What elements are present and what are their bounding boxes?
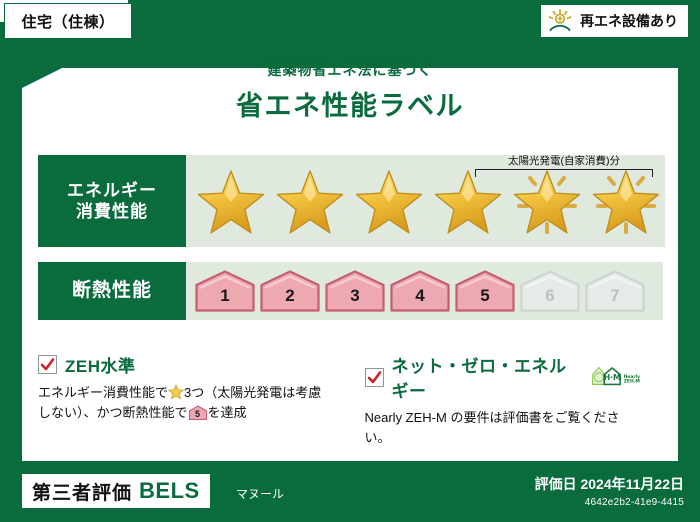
energy-performance-row: エネルギー 消費性能 [38, 155, 663, 247]
bels-footer-badge: 第三者評価 BELS [22, 474, 210, 508]
insulation-level-number: 1 [194, 286, 256, 306]
inline-star-icon [168, 384, 184, 400]
document-type-tab: 住宅（住棟） [4, 3, 132, 39]
solar-annotation-label: 太陽光発電(自家消費)分 [469, 153, 659, 168]
label-heading: 建築物省エネ法に基づく 省エネ性能ラベル [22, 60, 678, 123]
nzeb-criterion-title: ネット・ゼロ・エネルギー [392, 352, 578, 402]
insulation-level-filled: 3 [324, 269, 386, 313]
insulation-level-number: 2 [259, 286, 321, 306]
zeh-m-logo-main: H·M [604, 373, 621, 382]
document-type-label: 住宅（住棟） [21, 11, 114, 32]
insulation-level-number: 5 [454, 286, 516, 306]
nzeb-criterion: ネット・ゼロ・エネルギー H·M Nearly ZEH-M Nearly ZEH… [351, 352, 664, 448]
zeh-criterion-text: エネルギー消費性能で3つ（太陽光発電は考慮しない）、かつ断熱性能で5を達成 [38, 383, 333, 423]
insulation-performance-row: 断熱性能 1 2 3 4 5 6 7 [38, 262, 663, 320]
maker-name: マヌール [236, 485, 284, 502]
zeh-criterion-title: ZEH水準 [65, 352, 136, 377]
evaluation-uid: 4642e2b2-41e9-4415 [535, 497, 684, 508]
zeh-criterion: ZEH水準 エネルギー消費性能で3つ（太陽光発電は考慮しない）、かつ断熱性能で5… [38, 352, 351, 448]
energy-label-line2: 消費性能 [76, 201, 148, 222]
insulation-level-empty: 7 [584, 269, 646, 313]
criteria-section: ZEH水準 エネルギー消費性能で3つ（太陽光発電は考慮しない）、かつ断熱性能で5… [38, 352, 663, 448]
nzeb-checkbox [365, 368, 384, 387]
inline-house-5-icon: 5 [188, 405, 208, 421]
energy-label-line1: エネルギー [67, 180, 157, 201]
check-icon [367, 370, 382, 385]
bels-prefix-label: 第三者評価 [32, 478, 132, 505]
insulation-performance-levels-area: 1 2 3 4 5 6 7 [186, 262, 663, 320]
energy-performance-label: 住宅（住棟） 再エネ設備あり 建築物省エネ法に基づく 省エネ性能ラベル [0, 0, 700, 522]
evaluation-info: 評価日 2024年11月22日 4642e2b2-41e9-4415 [535, 474, 684, 508]
insulation-label: 断熱性能 [72, 279, 152, 303]
evaluation-date: 評価日 2024年11月22日 [535, 474, 684, 494]
solar-annotation-bracket [475, 169, 653, 177]
bels-brand-label: BELS [139, 478, 200, 504]
inline-house-number: 5 [188, 408, 208, 422]
star-filled [350, 162, 428, 240]
insulation-level-number: 4 [389, 286, 451, 306]
zeh-checkbox [38, 355, 57, 374]
insulation-level-empty: 6 [519, 269, 581, 313]
zeh-m-logo-sub2: ZEH-M [624, 379, 640, 385]
insulation-level-filled: 5 [454, 269, 516, 313]
insulation-level-number: 7 [584, 286, 646, 306]
insulation-level-number: 3 [324, 286, 386, 306]
renewable-energy-badge: 再エネ設備あり [541, 5, 688, 37]
energy-performance-stars-area: 太陽光発電(自家消費)分 [186, 155, 665, 247]
check-icon [40, 357, 55, 372]
heading-title: 省エネ性能ラベル [22, 84, 678, 123]
star-filled [271, 162, 349, 240]
star-filled [192, 162, 270, 240]
renewable-badge-label: 再エネ設備あり [580, 11, 678, 31]
sun-solar-icon [547, 8, 573, 34]
nzeb-criterion-text: Nearly ZEH-M の要件は評価書をご覧ください。 [365, 408, 646, 448]
insulation-level-number: 6 [519, 286, 581, 306]
energy-performance-label-box: エネルギー 消費性能 [38, 155, 186, 247]
zeh-text-part3: を達成 [208, 405, 247, 420]
insulation-level-filled: 2 [259, 269, 321, 313]
zeh-criterion-header: ZEH水準 [38, 352, 333, 377]
insulation-level-filled: 1 [194, 269, 256, 313]
zeh-text-part1: エネルギー消費性能で [38, 385, 168, 400]
solar-generation-annotation: 太陽光発電(自家消費)分 [469, 153, 659, 177]
insulation-level-filled: 4 [389, 269, 451, 313]
zeh-m-logo: H·M Nearly ZEH-M [590, 364, 645, 390]
nzeb-criterion-header: ネット・ゼロ・エネルギー H·M Nearly ZEH-M [365, 352, 646, 402]
insulation-level-scale: 1 2 3 4 5 6 7 [186, 269, 646, 313]
heading-subtitle: 建築物省エネ法に基づく [22, 60, 678, 80]
insulation-performance-label-box: 断熱性能 [38, 262, 186, 320]
